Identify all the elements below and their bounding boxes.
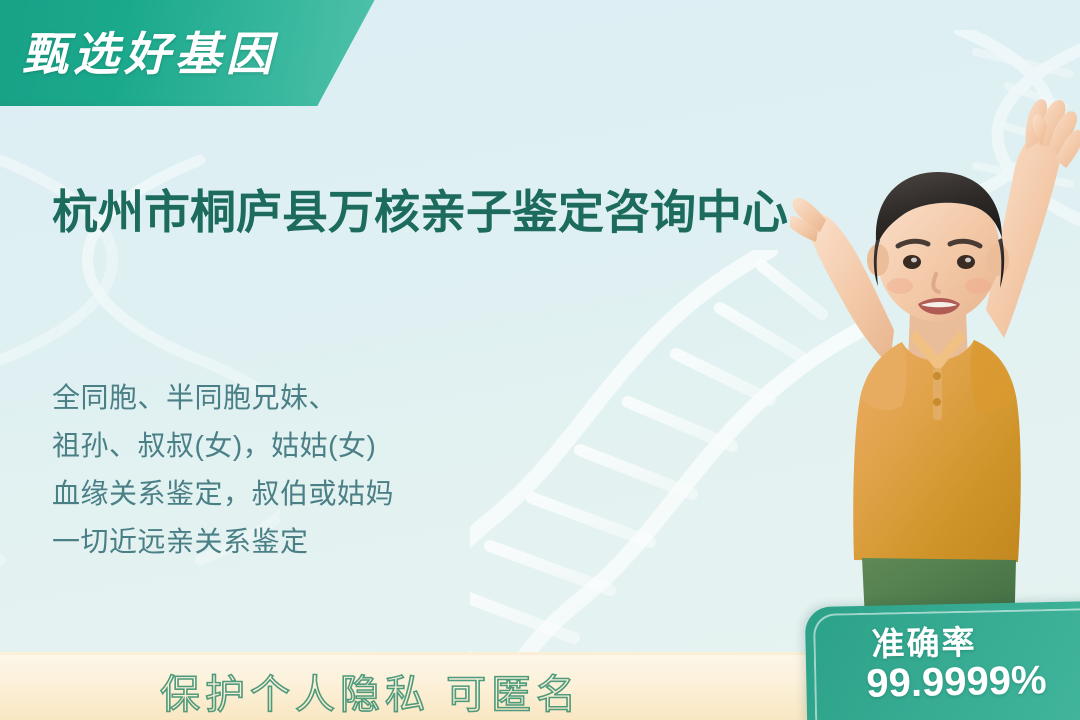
poster-canvas: 甄选好基因 杭州市桐庐县万核亲子鉴定咨询中心 全同胞、半同胞兄妹、 祖孙、叔叔(… [0, 0, 1080, 720]
privacy-statement: 保护个人隐私 可匿名 [160, 662, 581, 720]
service-line: 血缘关系鉴定，叔伯或姑妈 [52, 470, 612, 518]
accuracy-badge: 准确率 99.9999% [805, 601, 1080, 720]
accuracy-label: 准确率 [871, 616, 977, 666]
accuracy-value: 99.9999% [866, 658, 1047, 707]
brand-banner: 甄选好基因 [0, 0, 380, 106]
service-line: 一切近远亲关系鉴定 [52, 518, 612, 566]
service-line: 祖孙、叔叔(女)，姑姑(女) [52, 422, 612, 470]
child-photo [790, 80, 1080, 640]
brand-badge-label: 甄选好基因 [22, 18, 277, 84]
service-description: 全同胞、半同胞兄妹、 祖孙、叔叔(女)，姑姑(女) 血缘关系鉴定，叔伯或姑妈 一… [52, 374, 612, 567]
page-title: 杭州市桐庐县万核亲子鉴定咨询中心 [52, 183, 852, 243]
dna-helix-watermark-right [930, 30, 1080, 310]
service-line: 全同胞、半同胞兄妹、 [52, 374, 612, 422]
